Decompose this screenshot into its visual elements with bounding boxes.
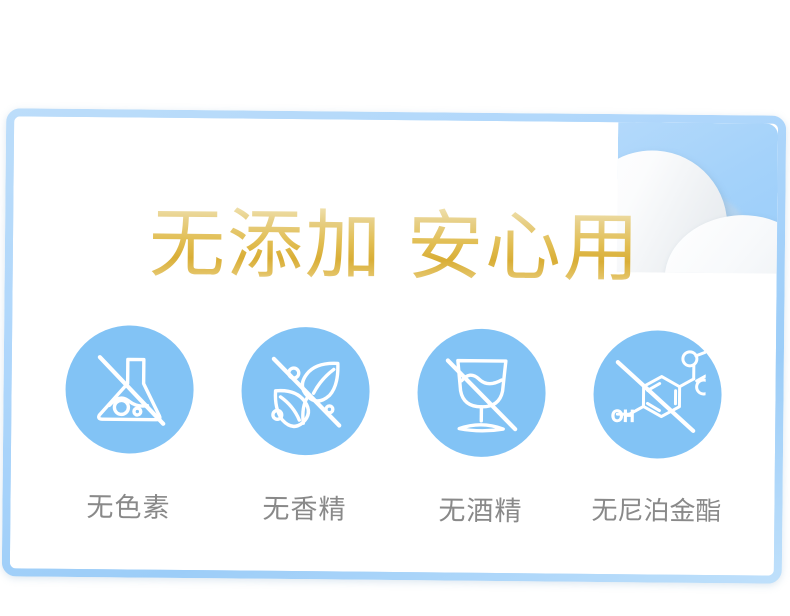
feature-label: 无尼泊金酯 — [591, 490, 721, 528]
no-paraben-molecule-icon: OH — [609, 346, 706, 443]
hydroxyl-label: OH — [611, 407, 634, 425]
feature-label: 无香精 — [262, 487, 346, 527]
feature-icon-badge: OH — [593, 330, 722, 459]
feature-label: 无酒精 — [438, 488, 522, 528]
feature-icon-badge — [417, 328, 546, 457]
feature-item-no-colorant[interactable]: 无色素 — [64, 325, 194, 525]
headline-part-1: 无添加 — [149, 199, 384, 290]
feature-card: 无添加安心用 — [2, 108, 786, 583]
no-colorant-flask-icon — [83, 343, 176, 436]
headline-part-2: 安心用 — [407, 201, 642, 292]
feature-item-no-alcohol[interactable]: 无酒精 — [416, 328, 546, 528]
feature-item-no-fragrance[interactable]: 无香精 — [240, 327, 370, 527]
feature-item-no-paraben[interactable]: OH 无尼泊金酯 — [592, 330, 722, 530]
feature-icon-badge — [65, 325, 194, 454]
feature-icon-badge — [241, 327, 370, 456]
no-fragrance-leaf-icon — [259, 345, 352, 438]
feature-label: 无色素 — [86, 485, 170, 525]
feature-card-wrapper: 无添加安心用 — [2, 108, 786, 583]
headline: 无添加安心用 — [13, 204, 778, 287]
poster-canvas: 无添加安心用 — [0, 0, 790, 616]
feature-icon-row: 无色素 — [10, 324, 776, 530]
no-alcohol-glass-icon — [435, 346, 528, 439]
